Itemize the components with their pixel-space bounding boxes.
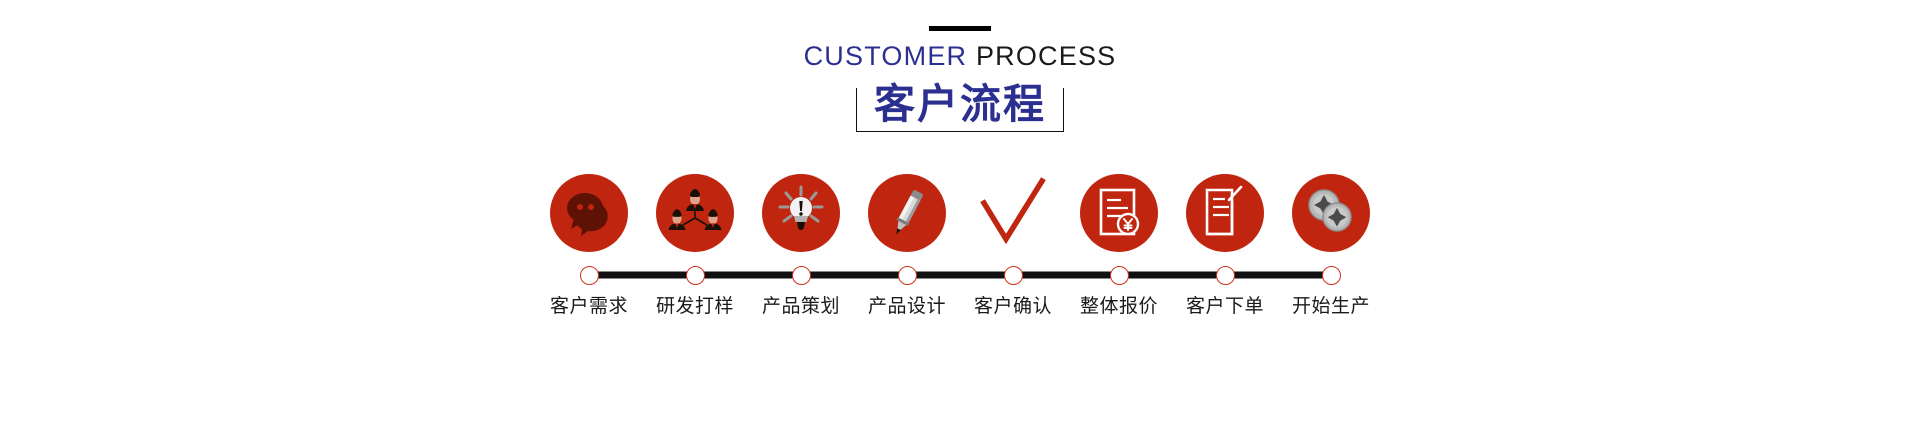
process-label-5: 客户确认 [974, 296, 1052, 319]
timeline-node-1[interactable] [580, 266, 599, 285]
process-step-3[interactable] [762, 174, 840, 252]
title-underline [856, 131, 1064, 132]
quote-document-yuan-icon [1080, 174, 1158, 252]
timeline-node-cell[interactable] [762, 266, 840, 285]
process-step-5[interactable] [974, 174, 1052, 252]
timeline-node-cell[interactable] [868, 266, 946, 285]
timeline-node-cell[interactable] [1292, 266, 1370, 285]
pen-design-icon [868, 174, 946, 252]
process-step-6[interactable] [1080, 174, 1158, 252]
screws-production-icon [1292, 174, 1370, 252]
chat-bubbles-icon [550, 174, 628, 252]
title-english-primary: CUSTOMER [804, 41, 968, 71]
timeline-node-5[interactable] [1004, 266, 1023, 285]
customer-process-banner: { "header": { "title_en_primary": "CUSTO… [0, 0, 1920, 426]
timeline-node-3[interactable] [792, 266, 811, 285]
process-label-4: 产品设计 [868, 296, 946, 319]
timeline-node-cell[interactable] [550, 266, 628, 285]
timeline-node-4[interactable] [898, 266, 917, 285]
process-step-4[interactable] [868, 174, 946, 252]
timeline-node-7[interactable] [1216, 266, 1235, 285]
timeline-rail-group [550, 264, 1370, 286]
title-dash-rule [929, 26, 991, 31]
timeline-node-6[interactable] [1110, 266, 1129, 285]
process-step-7[interactable] [1186, 174, 1264, 252]
timeline-nodes [550, 264, 1370, 286]
process-icon-row [550, 170, 1370, 252]
title-english: CUSTOMER PROCESS [0, 43, 1920, 70]
timeline-node-cell[interactable] [1080, 266, 1158, 285]
process-labels: 客户需求 研发打样 产品策划 产品设计 客户确认 整体报价 客户下单 开始生产 [550, 296, 1370, 319]
title-bracket-left [856, 88, 857, 132]
lightbulb-idea-icon [762, 174, 840, 252]
process-step-8[interactable] [1292, 174, 1370, 252]
process-label-7: 客户下单 [1186, 296, 1264, 319]
process-step-2[interactable] [656, 174, 734, 252]
banner-header: CUSTOMER PROCESS 客户流程 [0, 0, 1920, 132]
title-chinese-frame: 客户流程 [856, 80, 1064, 132]
timeline-node-8[interactable] [1322, 266, 1341, 285]
order-document-pen-icon [1186, 174, 1264, 252]
process-label-6: 整体报价 [1080, 296, 1158, 319]
title-bracket-right [1063, 88, 1064, 132]
checkmark-icon [974, 174, 1052, 252]
title-chinese: 客户流程 [874, 82, 1046, 128]
timeline-node-2[interactable] [686, 266, 705, 285]
process-label-3: 产品策划 [762, 296, 840, 319]
org-chart-people-icon [656, 174, 734, 252]
process-step-1[interactable] [550, 174, 628, 252]
process-label-1: 客户需求 [550, 296, 628, 319]
title-english-secondary: PROCESS [976, 41, 1116, 71]
process-timeline: 客户需求 研发打样 产品策划 产品设计 客户确认 整体报价 客户下单 开始生产 [550, 170, 1370, 330]
timeline-node-cell[interactable] [974, 266, 1052, 285]
process-label-2: 研发打样 [656, 296, 734, 319]
timeline-node-cell[interactable] [1186, 266, 1264, 285]
process-label-8: 开始生产 [1292, 296, 1370, 319]
timeline-node-cell[interactable] [656, 266, 734, 285]
